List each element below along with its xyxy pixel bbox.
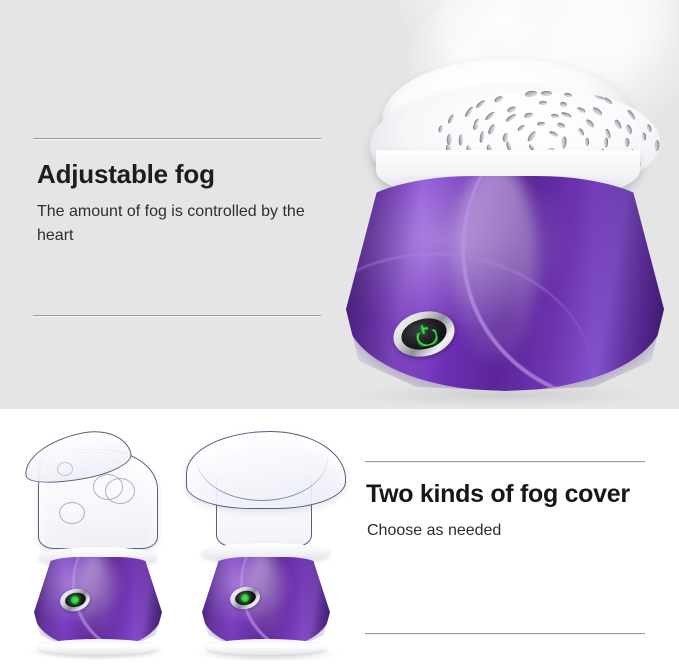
steam-vent-hole bbox=[551, 113, 560, 118]
steam-vent-hole bbox=[537, 121, 546, 126]
power-icon bbox=[414, 324, 435, 345]
narrow-fog-cover bbox=[38, 449, 158, 549]
power-button-face bbox=[398, 314, 450, 354]
steamer-purple-body bbox=[202, 557, 330, 649]
steam-vent-hole bbox=[541, 91, 552, 96]
steam-vent-hole bbox=[560, 102, 568, 108]
steamer-purple-body bbox=[34, 557, 162, 649]
steam-vent-hole bbox=[485, 110, 497, 121]
steam-vent-hole bbox=[524, 90, 537, 97]
steamer-wide-cover bbox=[182, 428, 350, 655]
steam-vent-hole bbox=[613, 118, 622, 129]
cover-ring-detail bbox=[59, 502, 85, 524]
section-headline: Adjustable fog bbox=[37, 160, 215, 189]
steam-vent-hole bbox=[642, 133, 647, 142]
section-subtext: The amount of fog is controlled by the h… bbox=[37, 200, 305, 248]
facial-steamer-base bbox=[330, 58, 679, 398]
steam-vent-hole bbox=[577, 127, 585, 136]
product-feature-page: Adjustable fog The amount of fog is cont… bbox=[0, 0, 679, 670]
steam-vent-hole bbox=[459, 134, 463, 145]
steam-vent-hole bbox=[624, 138, 630, 148]
steamer-purple-body bbox=[346, 176, 664, 391]
steam-vent-hole bbox=[561, 111, 573, 119]
steam-vent-hole bbox=[447, 114, 455, 125]
steam-vent-hole bbox=[604, 138, 608, 149]
base-bottom-rim bbox=[38, 639, 158, 655]
wide-fog-cover bbox=[186, 431, 346, 547]
steam-vent-hole bbox=[479, 131, 485, 143]
steam-vent-hole bbox=[517, 124, 526, 132]
steam-vent-hole bbox=[645, 124, 651, 133]
power-button-face bbox=[63, 591, 86, 609]
steam-vent-hole bbox=[539, 101, 547, 105]
base-bottom-rim bbox=[206, 639, 326, 655]
steam-vent-hole bbox=[560, 137, 566, 149]
divider-top bbox=[365, 461, 645, 462]
steam-vent-hole bbox=[523, 112, 533, 119]
steam-vent-hole bbox=[548, 131, 558, 139]
steam-vent-hole bbox=[438, 125, 444, 133]
power-button-face bbox=[233, 589, 256, 607]
steam-vent-hole bbox=[504, 114, 516, 124]
section-subtext: Choose as needed bbox=[367, 522, 501, 540]
power-icon bbox=[70, 595, 79, 604]
divider-bottom bbox=[33, 315, 321, 316]
steam-vent-hole bbox=[475, 99, 486, 109]
steam-vent-hole bbox=[625, 124, 633, 135]
cover-ring-detail bbox=[105, 478, 135, 504]
steam-vent-hole bbox=[446, 134, 452, 145]
cover-ring-detail bbox=[57, 462, 73, 476]
steam-vent-hole bbox=[585, 138, 589, 146]
steam-vent-hole bbox=[564, 92, 572, 97]
steam-vent-hole bbox=[592, 106, 604, 117]
divider-bottom bbox=[365, 633, 645, 634]
steam-vent-hole bbox=[653, 140, 659, 152]
steam-vent-hole bbox=[464, 106, 474, 118]
power-icon bbox=[240, 593, 249, 602]
steam-vent-hole bbox=[557, 122, 566, 130]
steam-vent-hole bbox=[577, 107, 586, 114]
steamer-narrow-cover bbox=[18, 440, 178, 655]
section-adjustable-fog: Adjustable fog The amount of fog is cont… bbox=[0, 0, 679, 409]
steam-vent-hole bbox=[527, 131, 538, 143]
steam-vent-hole bbox=[487, 123, 496, 135]
divider-top bbox=[33, 138, 321, 139]
steam-vent-hole bbox=[493, 95, 503, 103]
steam-vent-hole bbox=[584, 119, 594, 130]
steam-vent-hole bbox=[506, 105, 516, 113]
section-headline: Two kinds of fog cover bbox=[366, 480, 630, 509]
